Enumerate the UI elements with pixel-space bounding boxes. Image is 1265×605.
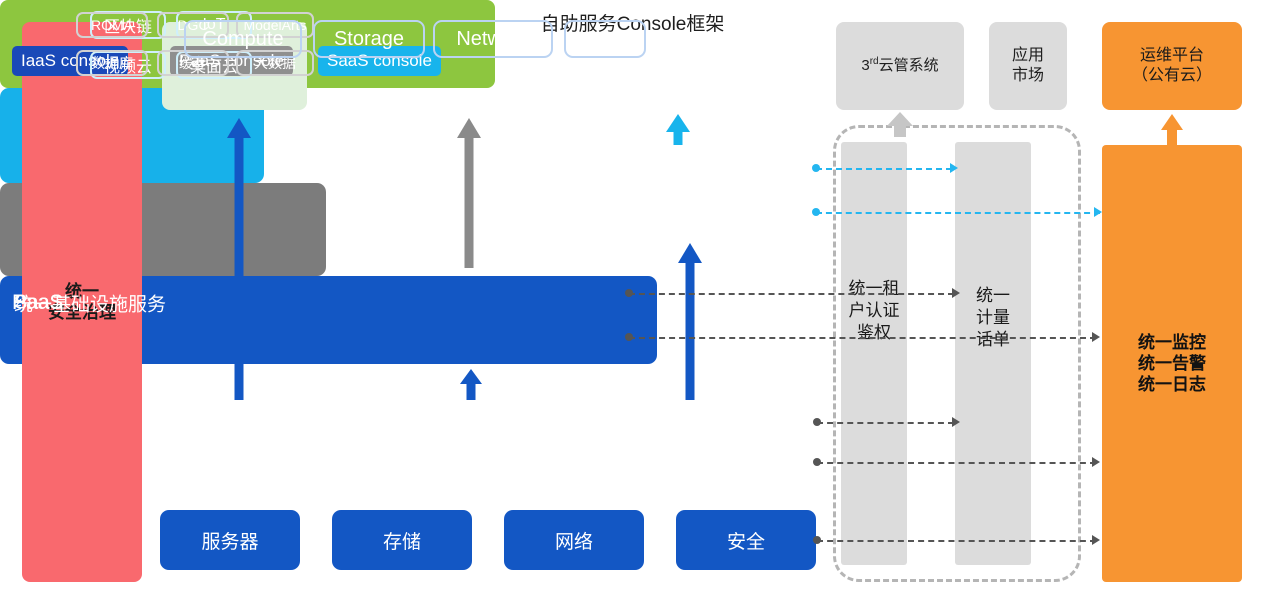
hardware-box-server[interactable]: 服务器	[160, 510, 300, 570]
architecture-diagram: 统一 安全治理 API网关 自助服务Console框架 IaaS console…	[0, 0, 1265, 605]
arrowhead-paas-to-billing	[952, 288, 960, 298]
iaas-chip-cce[interactable]: CCE	[564, 20, 646, 58]
connector-hardware-to-ops	[817, 540, 1096, 542]
iaas-label: 统一基础设施服务	[14, 289, 166, 316]
hardware-box-security[interactable]: 安全	[676, 510, 816, 570]
arrowhead-iaas-to-ops	[1092, 457, 1100, 467]
ops-platform-public-cloud-box[interactable]: 运维平台 （公有云）	[1102, 22, 1242, 110]
arrow-saas-to-console	[664, 114, 692, 145]
unified-monitoring-panel[interactable]: 统一监控 统一告警 统一日志	[1102, 145, 1242, 582]
paas-chip-database[interactable]: 数据库	[76, 50, 148, 76]
connector-paas-to-ops	[629, 337, 1096, 339]
arrow-ops-body-to-ops-top	[1158, 114, 1186, 146]
unified-monitoring-label: 统一监控 统一告警 统一日志	[1138, 332, 1206, 396]
arrow-paas-to-console	[455, 118, 483, 268]
hardware-box-storage[interactable]: 存储	[332, 510, 472, 570]
iaas-chip-compute[interactable]: Compute	[184, 20, 302, 58]
connector-saas-to-ops	[816, 212, 1100, 214]
app-market-box[interactable]: 应用 市场	[989, 22, 1067, 110]
third-party-cloud-mgmt-box[interactable]: 3rd云管系统	[836, 22, 964, 110]
unified-tenant-auth-column[interactable]	[841, 142, 907, 565]
arrow-iaas-to-saas	[676, 243, 704, 400]
connector-saas-to-billing	[816, 168, 952, 170]
arrow-iaas-to-paas	[459, 369, 483, 400]
hardware-box-network[interactable]: 网络	[504, 510, 644, 570]
app-market-label: 应用 市场	[1012, 46, 1044, 86]
arrow-shared-to-third-party	[886, 112, 914, 137]
paas-chip-roma[interactable]: ROMA	[76, 12, 148, 38]
iaas-chip-storage[interactable]: Storage	[313, 20, 425, 58]
iaas-chip-network[interactable]: Network	[433, 20, 553, 58]
connector-paas-to-billing	[629, 293, 954, 295]
unified-tenant-auth-label: 统一租 户认证 鉴权	[841, 278, 907, 344]
unified-metering-billing-column[interactable]	[955, 142, 1031, 565]
ops-platform-label: 运维平台 （公有云）	[1132, 46, 1212, 86]
arrowhead-saas-to-ops	[1094, 207, 1102, 217]
arrowhead-saas-to-billing	[950, 163, 958, 173]
unified-metering-billing-label: 统一 计量 话单	[955, 285, 1031, 351]
connector-iaas-to-billing	[817, 422, 954, 424]
connector-iaas-to-ops	[817, 462, 1096, 464]
arrowhead-iaas-to-billing	[952, 417, 960, 427]
arrow-iaas-to-api-gateway	[225, 118, 253, 400]
arrowhead-paas-to-ops	[1092, 332, 1100, 342]
arrowhead-hardware-to-ops	[1092, 535, 1100, 545]
third-party-label: 3rd云管系统	[861, 56, 938, 76]
